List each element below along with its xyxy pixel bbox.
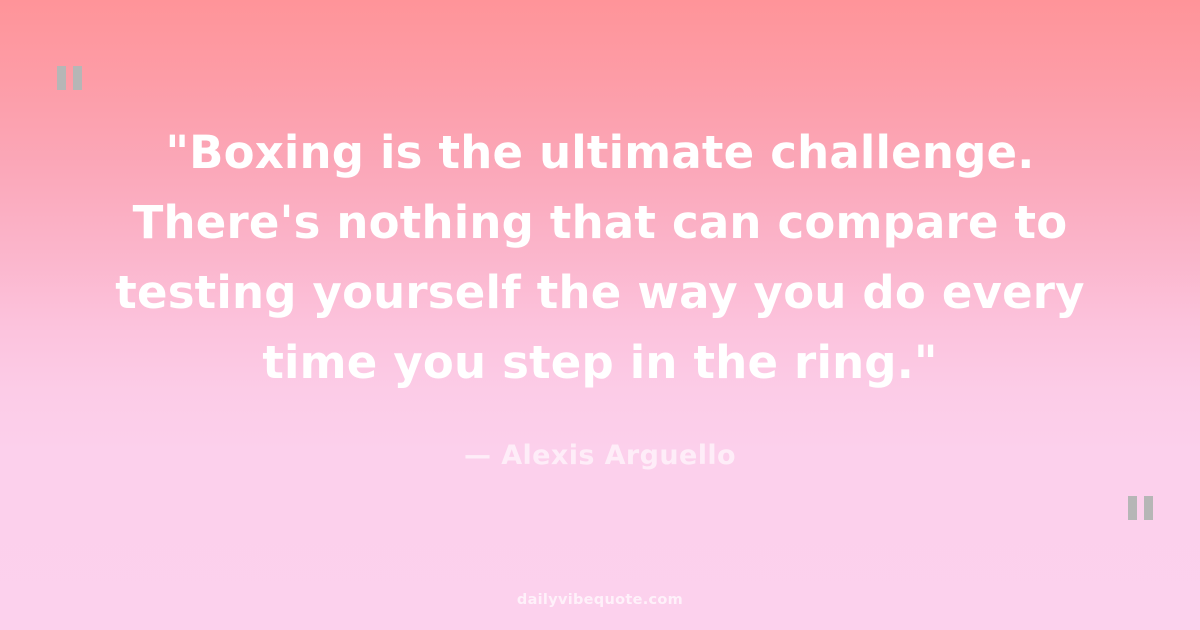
quote-card: "Boxing is the ultimate challenge. There… [0, 0, 1200, 630]
site-watermark: dailyvibequote.com [0, 592, 1200, 608]
quote-text: "Boxing is the ultimate challenge. There… [60, 118, 1140, 398]
quote-line: time you step in the ring." [60, 328, 1140, 398]
quote-line: testing yourself the way you do every [60, 258, 1140, 328]
quote-line: "Boxing is the ultimate challenge. [60, 118, 1140, 188]
quote-content: "Boxing is the ultimate challenge. There… [0, 0, 1200, 630]
quote-author: — Alexis Arguello [464, 440, 736, 471]
quote-line: There's nothing that can compare to [60, 188, 1140, 258]
